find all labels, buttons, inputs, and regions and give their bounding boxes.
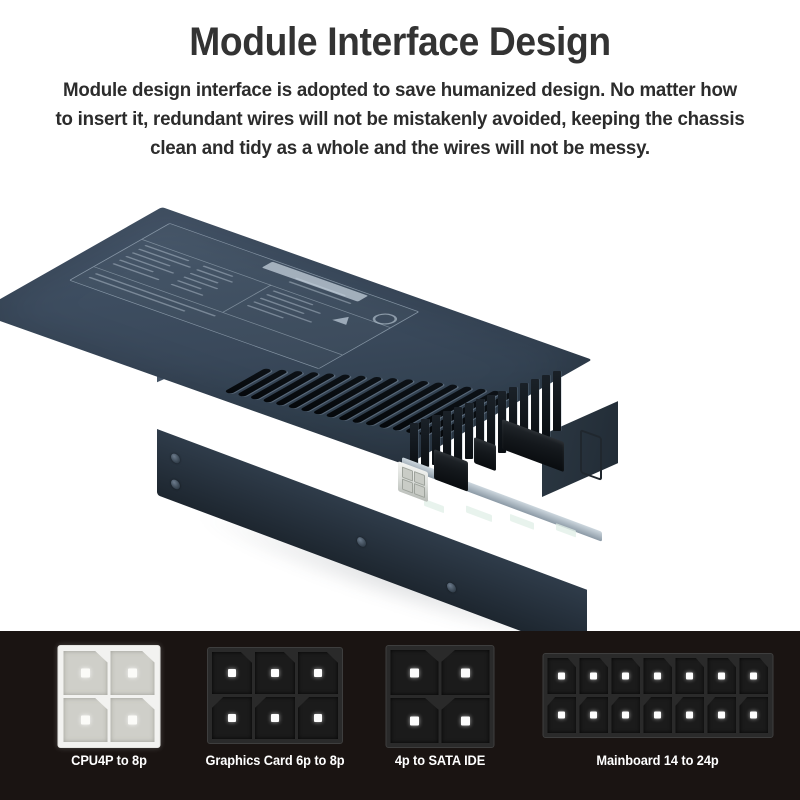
connector-caption: Graphics Card 6p to 8p bbox=[190, 752, 361, 769]
brand-mark bbox=[262, 262, 368, 302]
label-divider bbox=[142, 239, 391, 327]
screw-icon bbox=[171, 452, 180, 464]
sata-ide-4pin-connector-icon bbox=[386, 645, 495, 748]
screw-icon bbox=[171, 478, 180, 490]
pcb-retention-bracket bbox=[580, 429, 602, 481]
connector-item-mainboard[interactable]: Mainboard 14 to 24p bbox=[515, 631, 800, 800]
warning-triangle-icon bbox=[332, 314, 356, 324]
product-photo bbox=[110, 165, 690, 625]
page-title: Module Interface Design bbox=[28, 17, 772, 67]
page-description: Module design interface is adopted to sa… bbox=[52, 76, 747, 163]
connector-strip: CPU4P to 8p Graphics Card 6p to 8p 4p to bbox=[0, 631, 800, 800]
header-section: Module Interface Design Module design in… bbox=[0, 0, 800, 631]
connector-item-sata[interactable]: 4p to SATA IDE bbox=[365, 631, 515, 800]
connector-caption: 4p to SATA IDE bbox=[369, 752, 512, 769]
screw-icon bbox=[447, 581, 456, 593]
gpu-6pin-connector-icon bbox=[207, 647, 343, 744]
connector-caption: Mainboard 14 to 24p bbox=[522, 752, 793, 769]
certification-icon bbox=[368, 311, 402, 326]
power-supply-unit bbox=[110, 165, 690, 625]
screw-icon bbox=[357, 536, 366, 548]
cpu-4pin-connector-icon bbox=[58, 645, 161, 748]
pcb-silkscreen-label bbox=[510, 514, 534, 530]
connector-item-gpu6p[interactable]: Graphics Card 6p to 8p bbox=[185, 631, 365, 800]
pcb-silkscreen-label bbox=[466, 505, 492, 522]
mainboard-14pin-connector-icon bbox=[542, 653, 773, 738]
connector-caption: CPU4P to 8p bbox=[5, 752, 212, 769]
